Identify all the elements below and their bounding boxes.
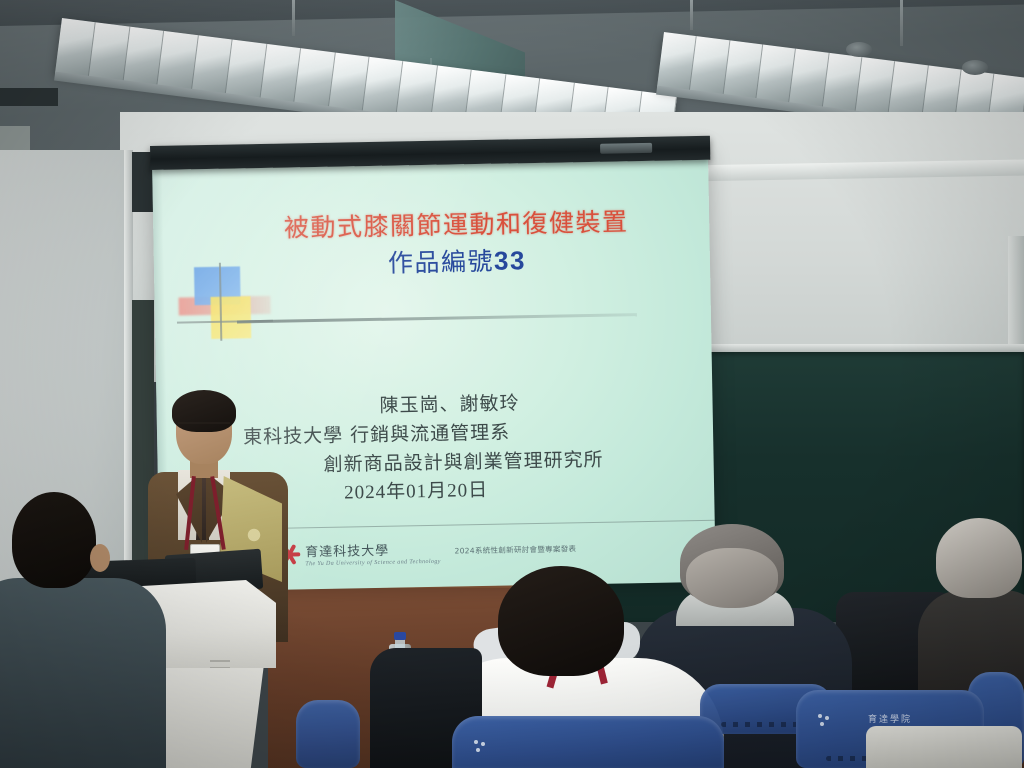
bottle-cap [394,632,406,640]
footer-org2: 育達科技大學 The Yu Da University of Science a… [278,538,441,567]
presenter-sash-emblem [240,524,268,546]
slide-title: 被動式膝關節運動和復健裝置 作品編號33 [241,206,672,280]
chair-label: 育達學院 [796,712,984,725]
attendee-head [936,518,1022,598]
footer-event-name: 2024系統性創新研討會暨專案發表 [455,543,577,556]
auditorium-chair-front[interactable] [452,716,724,768]
attendee-head [498,566,624,676]
classroom-scene: 被動式膝關節運動和復健裝置 作品編號33 陳玉崗、謝敏玲 東科技大學 行銷與流通… [0,0,1024,768]
ceiling-beam [0,0,1024,26]
chair-seat-pad[interactable] [866,726,1022,768]
fixture-hanger [900,0,903,46]
footer-org2-name: 育達科技大學 [305,543,389,560]
board-frame [1008,236,1024,356]
attendee-ear [90,544,110,572]
slide-work-number: 33 [494,245,526,276]
attendee-head [12,492,96,588]
auditorium-chair[interactable] [296,700,360,768]
ceiling-speaker-icon [962,60,988,75]
decoration-yellow-square [211,296,252,339]
fixture-hanger [690,0,693,30]
slide-title-line1: 被動式膝關節運動和復健裝置 [241,206,671,243]
attendee-body [0,578,166,768]
fixture-hanger [292,0,295,36]
chair-dot-marks [474,740,490,754]
attendee-front-left [0,492,154,768]
glasses-icon [178,422,230,432]
ceiling-speaker-icon [846,42,872,57]
slide-divider-rule [237,313,637,323]
screen-roller-knob[interactable] [600,143,652,154]
slide-title-line2-text: 作品編號 [388,246,495,277]
slide-title-line2: 作品編號33 [242,242,672,281]
ceiling-vent [0,88,58,106]
